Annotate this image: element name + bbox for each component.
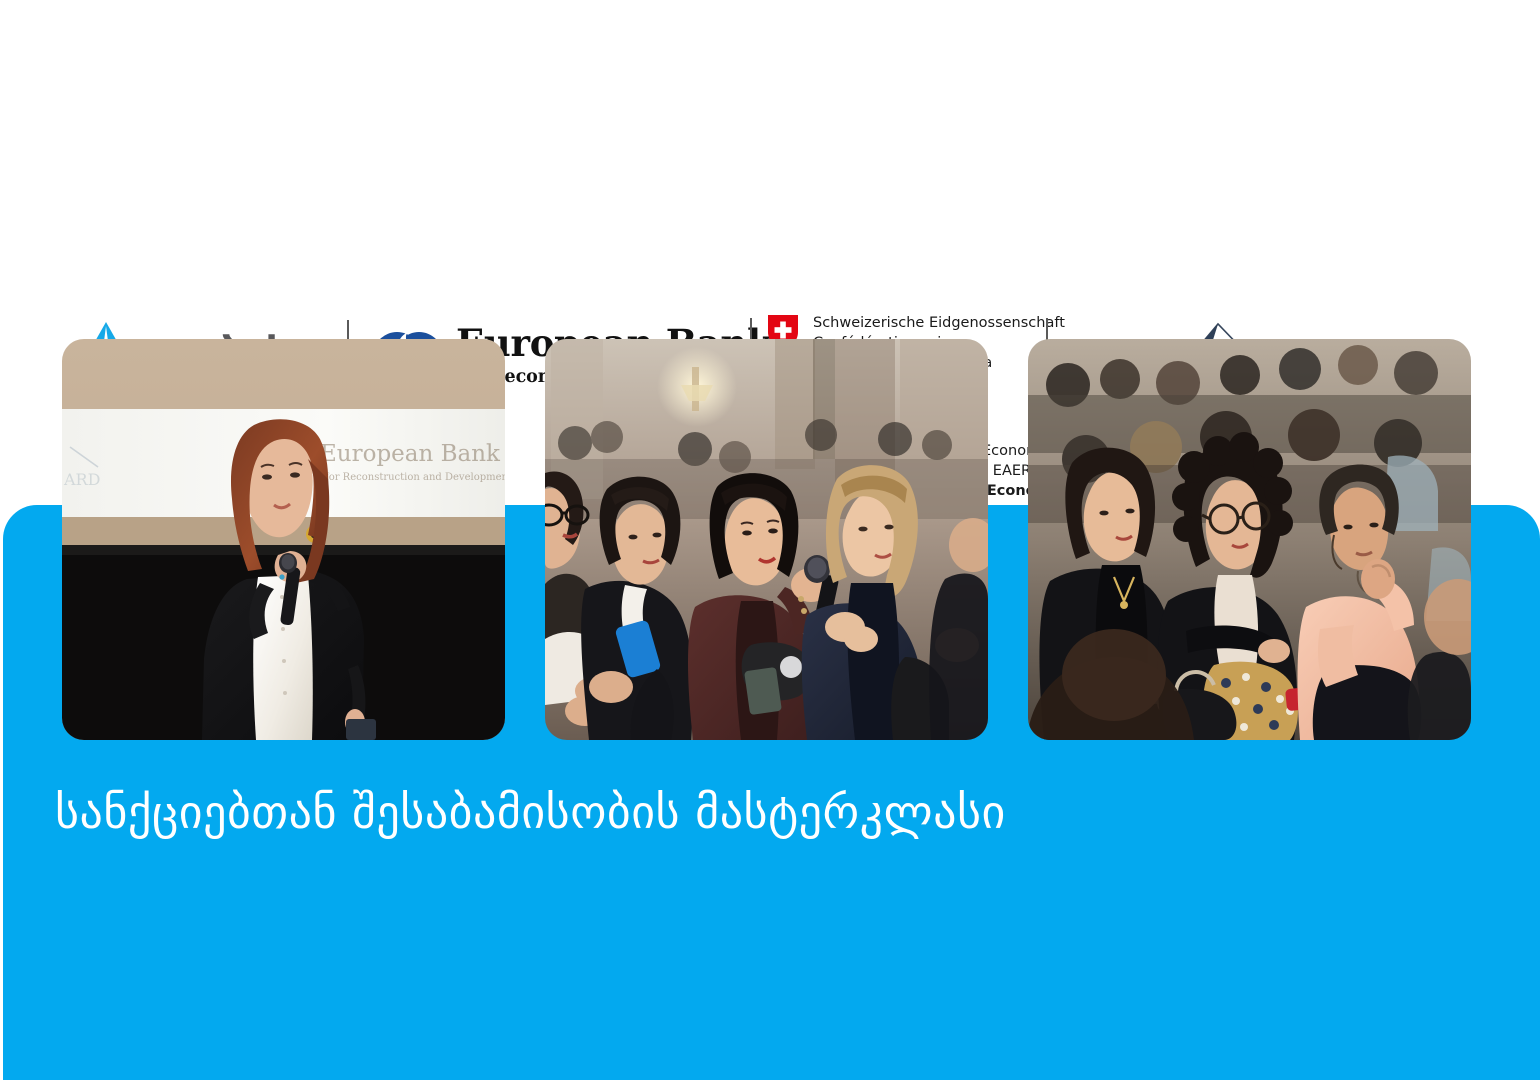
svg-text:for Reconstruction and Develop: for Reconstruction and Development <box>325 472 505 483</box>
page-title: სანქციებთან შესაბამისობის მასტერკლასი <box>55 786 1006 839</box>
speaker-photo: European Bank for Reconstruction and Dev… <box>62 339 505 740</box>
audience-listening-photo <box>1028 339 1471 740</box>
svg-text:European Bank: European Bank <box>320 441 501 467</box>
svg-text:ARD: ARD <box>63 470 100 489</box>
audience-listening-photo-image <box>1028 339 1471 740</box>
audience-question-photo-image <box>545 339 988 740</box>
speaker-photo-image: European Bank for Reconstruction and Dev… <box>62 339 505 740</box>
audience-question-photo <box>545 339 988 740</box>
partner-logo-bar: თიბისი European Bank for Reconstruction … <box>0 150 1540 325</box>
